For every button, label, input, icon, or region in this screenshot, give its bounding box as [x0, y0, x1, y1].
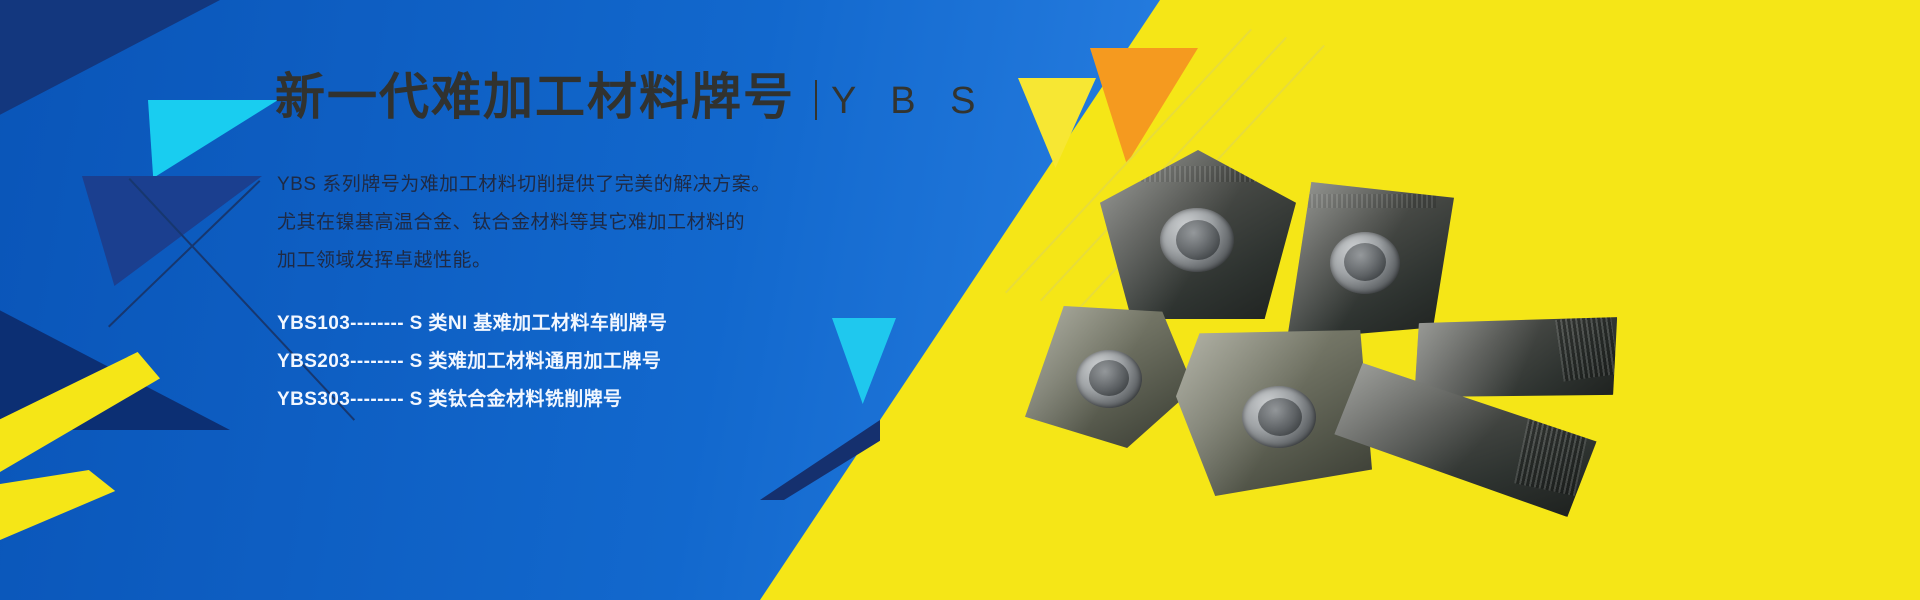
- banner-model-list: YBS103-------- S 类NI 基难加工材料车削牌号 YBS203--…: [277, 305, 1017, 419]
- page-title: 新一代难加工材料牌号: [275, 72, 795, 122]
- insert-serration: [1514, 419, 1588, 496]
- insert-serration: [1114, 166, 1280, 182]
- insert-serration: [1555, 312, 1619, 381]
- banner-title: 新一代难加工材料牌号 Y B S: [275, 72, 987, 122]
- banner-text-content: 新一代难加工材料牌号 Y B S YBS 系列牌号为难加工材料切削提供了完美的解…: [275, 0, 1035, 600]
- insert-hole-inner: [1344, 243, 1386, 281]
- product-insert-cluster: [980, 130, 1600, 530]
- yellow-arrow-bottom-left-icon: [0, 470, 120, 540]
- product-banner: 新一代难加工材料牌号 Y B S YBS 系列牌号为难加工材料切削提供了完美的解…: [0, 0, 1920, 600]
- rhombic-turning-insert: [1280, 182, 1454, 340]
- navy-triangle-left-mid-icon: [82, 176, 262, 286]
- banner-description: YBS 系列牌号为难加工材料切削提供了完美的解决方案。 尤其在镍基高温合金、钛合…: [277, 166, 1017, 280]
- title-divider-icon: [815, 80, 817, 120]
- cyan-triangle-left-icon: [148, 100, 278, 178]
- insert-hole-inner: [1258, 398, 1302, 436]
- description-line: 尤其在镍基高温合金、钛合金材料等其它难加工材料的: [277, 204, 1017, 242]
- model-line: YBS103-------- S 类NI 基难加工材料车削牌号: [277, 305, 1017, 343]
- trigon-turning-insert: [1100, 150, 1296, 326]
- insert-serration: [1296, 194, 1436, 208]
- pentagon-milling-insert: [1018, 306, 1194, 448]
- description-line: 加工领域发挥卓越性能。: [277, 242, 1017, 280]
- description-line: YBS 系列牌号为难加工材料切削提供了完美的解决方案。: [277, 166, 1017, 204]
- brand-name: Y B S: [831, 82, 987, 122]
- insert-hole-inner: [1089, 360, 1129, 396]
- model-line: YBS303-------- S 类钛合金材料铣削牌号: [277, 381, 1017, 419]
- model-line: YBS203-------- S 类难加工材料通用加工牌号: [277, 343, 1017, 381]
- insert-hole-inner: [1176, 220, 1220, 260]
